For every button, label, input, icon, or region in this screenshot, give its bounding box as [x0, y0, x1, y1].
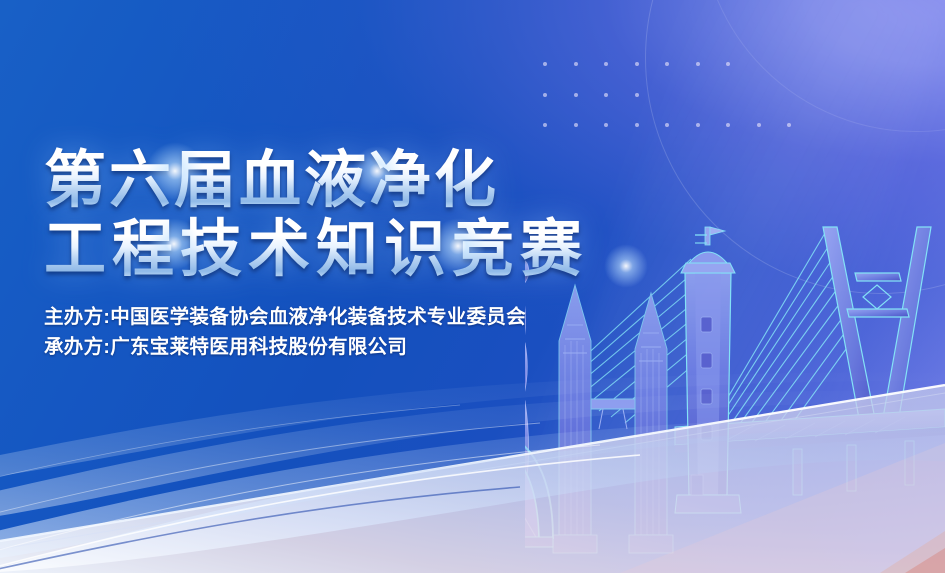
decorative-dot [604, 123, 608, 127]
decorative-dot [604, 93, 608, 97]
decorative-dot [696, 123, 700, 127]
decorative-dot [574, 62, 578, 66]
banner-subtitle-group: 主办方:中国医学装备协会血液净化装备技术专业委员会 承办方:广东宝莱特医用科技股… [44, 303, 664, 362]
decorative-dot [635, 62, 639, 66]
decorative-dot [574, 123, 578, 127]
decorative-dot [726, 62, 730, 66]
decorative-dot [574, 93, 578, 97]
decorative-dot [696, 62, 700, 66]
decorative-dot [726, 123, 730, 127]
banner-text-block: 第六届血液净化 工程技术知识竞赛 主办方:中国医学装备协会血液净化装备技术专业委… [44, 146, 664, 362]
decorative-dot [543, 123, 547, 127]
decorative-dot [543, 93, 547, 97]
decorative-dot [543, 62, 547, 66]
banner-title-line-2: 工程技术知识竞赛 [44, 215, 664, 284]
decorative-dot [757, 123, 761, 127]
decorative-dot [635, 93, 639, 97]
decorative-dot [665, 62, 669, 66]
decorative-dot [665, 123, 669, 127]
decorative-dot [635, 123, 639, 127]
co-organizer-line: 承办方:广东宝莱特医用科技股份有限公司 [44, 333, 664, 363]
decorative-circle-secondary [700, 0, 945, 132]
decorative-dot [604, 62, 608, 66]
organizer-line: 主办方:中国医学装备协会血液净化装备技术专业委员会 [44, 303, 664, 333]
event-banner: 第六届血液净化 工程技术知识竞赛 主办方:中国医学装备协会血液净化装备技术专业委… [0, 0, 945, 573]
decorative-dot [787, 123, 791, 127]
banner-title-line-1: 第六届血液净化 [44, 146, 664, 215]
